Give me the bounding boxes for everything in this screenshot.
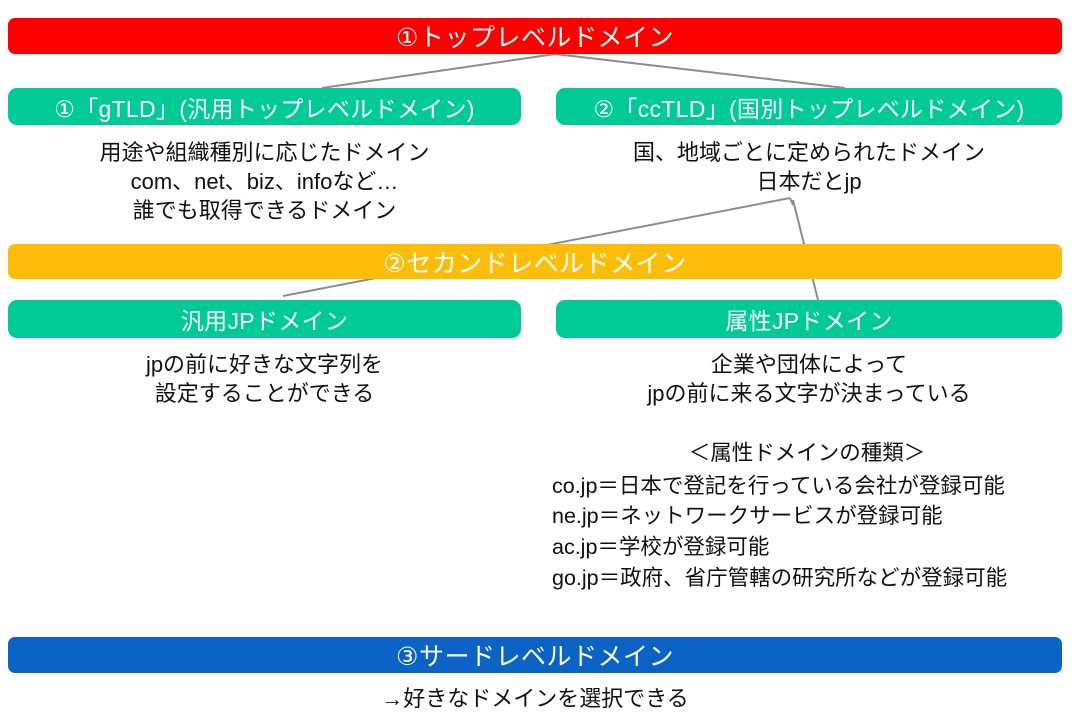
gtld-chip: ①「gTLD」(汎用トップレベルドメイン) — [8, 88, 521, 125]
attribute-domain-types-title: ＜属性ドメインの種類＞ — [536, 438, 1078, 469]
cctld-note: 国、地域ごとに定められたドメイン 日本だとjp — [556, 138, 1062, 196]
gtld-note-line-3: 誰でも取得できるドメイン — [8, 196, 521, 225]
cctld-note-line-1: 国、地域ごとに定められたドメイン — [556, 138, 1062, 167]
attribute-domain-entry-go-jp: go.jp＝政府、省庁管轄の研究所などが登録可能 — [552, 563, 1078, 594]
attribute-domain-types: ＜属性ドメインの種類＞ co.jp＝日本で登記を行っている会社が登録可能 ne.… — [536, 438, 1078, 594]
gtld-note-line-2: com、net、biz、infoなど… — [8, 167, 521, 196]
connector-tld-to-cctld — [555, 54, 845, 88]
domain-hierarchy-diagram: ①トップレベルドメイン ①「gTLD」(汎用トップレベルドメイン) 用途や組織種… — [0, 0, 1078, 717]
third-level-note-line-1: →好きなドメインを選択できる — [8, 684, 1062, 713]
second-level-domain-bar: ②セカンドレベルドメイン — [8, 244, 1062, 279]
attribute-domain-entry-ne-jp: ne.jp＝ネットワークサービスが登録可能 — [552, 501, 1078, 532]
cctld-chip-label: ②「ccTLD」(国別トップレベルドメイン) — [594, 90, 1025, 124]
third-level-domain-label: ③サードレベルドメイン — [396, 637, 674, 673]
gtld-chip-label: ①「gTLD」(汎用トップレベルドメイン) — [54, 90, 474, 124]
cctld-note-line-2: 日本だとjp — [556, 167, 1062, 196]
zokusei-note-line-1: 企業や団体によって — [556, 350, 1062, 379]
connector-tld-to-gtld — [322, 54, 555, 88]
attribute-domain-entry-ac-jp: ac.jp＝学校が登録可能 — [552, 532, 1078, 563]
gtld-note-line-1: 用途や組織種別に応じたドメイン — [8, 138, 521, 167]
zokusei-note-line-2: jpの前に来る文字が決まっている — [556, 379, 1062, 408]
hanyo-jp-domain-label: 汎用JPドメイン — [181, 302, 348, 336]
second-level-domain-label: ②セカンドレベルドメイン — [383, 244, 686, 280]
cctld-chip: ②「ccTLD」(国別トップレベルドメイン) — [556, 88, 1062, 125]
attribute-domain-entry-co-jp: co.jp＝日本で登記を行っている会社が登録可能 — [552, 471, 1078, 502]
top-level-domain-label: ①トップレベルドメイン — [396, 18, 674, 54]
hanyo-note-line-2: 設定することができる — [8, 379, 521, 408]
gtld-note: 用途や組織種別に応じたドメイン com、net、biz、infoなど… 誰でも取… — [8, 138, 521, 225]
top-level-domain-bar: ①トップレベルドメイン — [8, 18, 1062, 54]
zokusei-jp-domain-label: 属性JPドメイン — [725, 302, 892, 336]
connector-cctld-stem — [790, 198, 793, 205]
hanyo-jp-domain-chip: 汎用JPドメイン — [8, 300, 521, 338]
attribute-domain-types-list: co.jp＝日本で登記を行っている会社が登録可能 ne.jp＝ネットワークサービ… — [536, 471, 1078, 594]
third-level-domain-bar: ③サードレベルドメイン — [8, 637, 1062, 673]
third-level-domain-note: →好きなドメインを選択できる — [8, 684, 1062, 713]
zokusei-jp-domain-chip: 属性JPドメイン — [556, 300, 1062, 338]
hanyo-jp-domain-note: jpの前に好きな文字列を 設定することができる — [8, 350, 521, 408]
hanyo-note-line-1: jpの前に好きな文字列を — [8, 350, 521, 379]
zokusei-jp-domain-note: 企業や団体によって jpの前に来る文字が決まっている — [556, 350, 1062, 408]
